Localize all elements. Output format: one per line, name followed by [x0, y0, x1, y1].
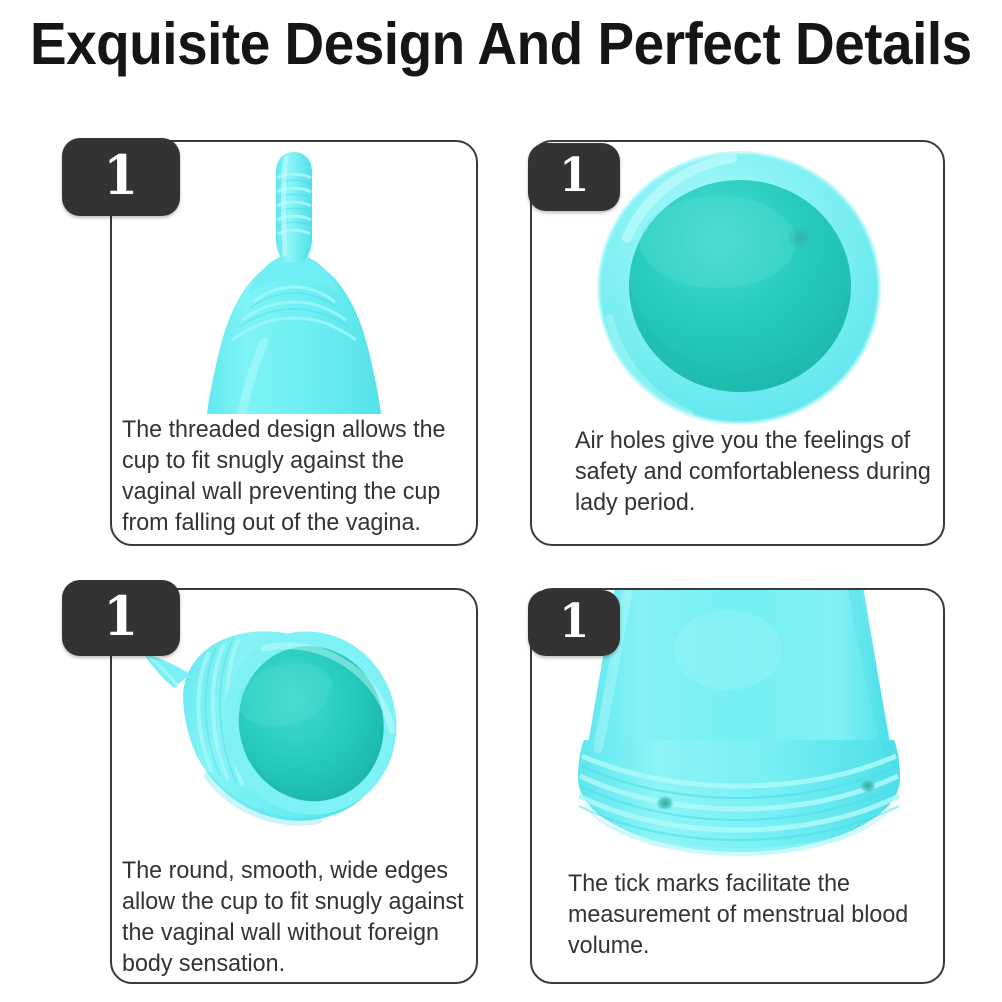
page-title: Exquisite Design And Perfect Details [30, 8, 914, 80]
panel-2-caption: Air holes give you the feelings of safet… [575, 425, 955, 518]
panel-4-number: 1 [559, 594, 589, 649]
panel-3-number-badge: 1 [62, 580, 180, 656]
infographic-page: Exquisite Design And Perfect Details [0, 0, 1002, 1002]
panel-2-number-badge: 1 [528, 143, 620, 211]
panel-4-caption: The tick marks facilitate the measuremen… [568, 868, 948, 961]
panel-1-number-badge: 1 [62, 138, 180, 216]
panel-2-number: 1 [559, 148, 589, 203]
panel-3-number: 1 [104, 584, 139, 648]
panel-1-caption: The threaded design allows the cup to fi… [122, 414, 483, 538]
panel-4-number-badge: 1 [528, 590, 620, 656]
panel-1-number: 1 [104, 143, 139, 207]
panel-3-caption: The round, smooth, wide edges allow the … [122, 855, 483, 979]
